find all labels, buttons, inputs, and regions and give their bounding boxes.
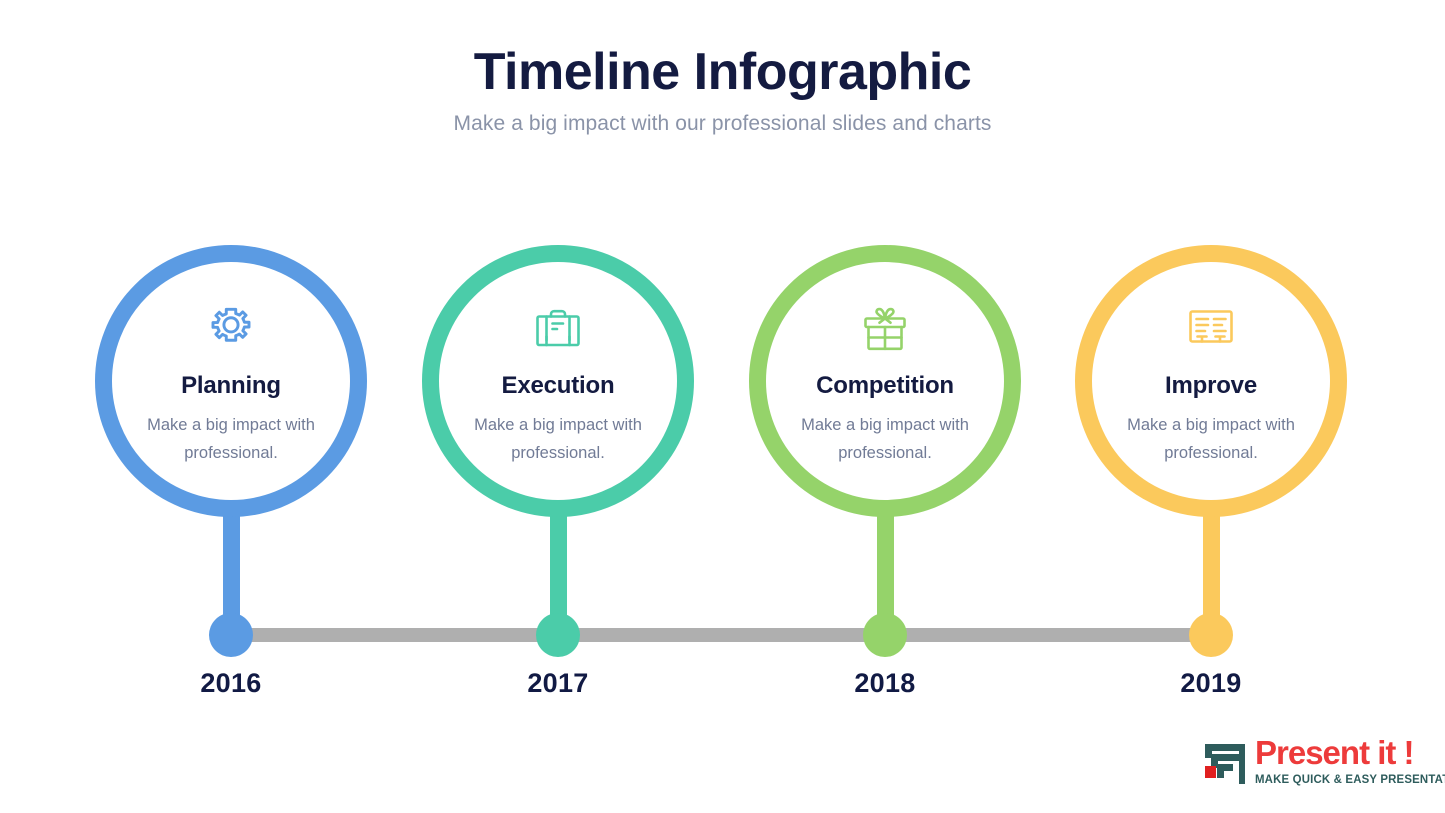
presentation-board-icon (1180, 300, 1242, 358)
present-it-logo-mark-icon (1203, 741, 1251, 787)
timeline-dot-3[interactable] (863, 613, 907, 657)
step-year-label: 2019 (1131, 668, 1291, 699)
step-circle-3[interactable]: Competition Make a big impact with profe… (749, 245, 1021, 517)
logo-wordmark: Present it ! (1255, 736, 1445, 769)
step-circle-2[interactable]: Execution Make a big impact with profess… (422, 245, 694, 517)
step-circle-1[interactable]: Planning Make a big impact with professi… (95, 245, 367, 517)
timeline-bar (231, 628, 1213, 642)
briefcase-icon (527, 300, 589, 358)
step-description: Make a big impact with professional. (1111, 412, 1311, 467)
step-circle-4[interactable]: Improve Make a big impact with professio… (1075, 245, 1347, 517)
timeline-dot-4[interactable] (1189, 613, 1233, 657)
step-description: Make a big impact with professional. (131, 412, 331, 467)
timeline-dot-1[interactable] (209, 613, 253, 657)
step-year-label: 2017 (478, 668, 638, 699)
step-description: Make a big impact with professional. (785, 412, 985, 467)
timeline-infographic: Planning Make a big impact with professi… (0, 0, 1445, 813)
step-title: Planning (181, 372, 281, 400)
timeline-dot-2[interactable] (536, 613, 580, 657)
logo-tagline: MAKE QUICK & EASY PRESENTATIONS (1255, 772, 1445, 786)
gift-icon (854, 300, 916, 358)
gear-icon (200, 300, 262, 358)
step-title: Improve (1165, 372, 1257, 400)
step-description: Make a big impact with professional. (458, 412, 658, 467)
logo-text-block: Present it ! MAKE QUICK & EASY PRESENTAT… (1255, 736, 1445, 786)
brand-logo: Present it ! MAKE QUICK & EASY PRESENTAT… (1203, 738, 1431, 794)
step-year-label: 2016 (151, 668, 311, 699)
step-title: Competition (816, 372, 954, 400)
step-title: Execution (502, 372, 615, 400)
step-year-label: 2018 (805, 668, 965, 699)
